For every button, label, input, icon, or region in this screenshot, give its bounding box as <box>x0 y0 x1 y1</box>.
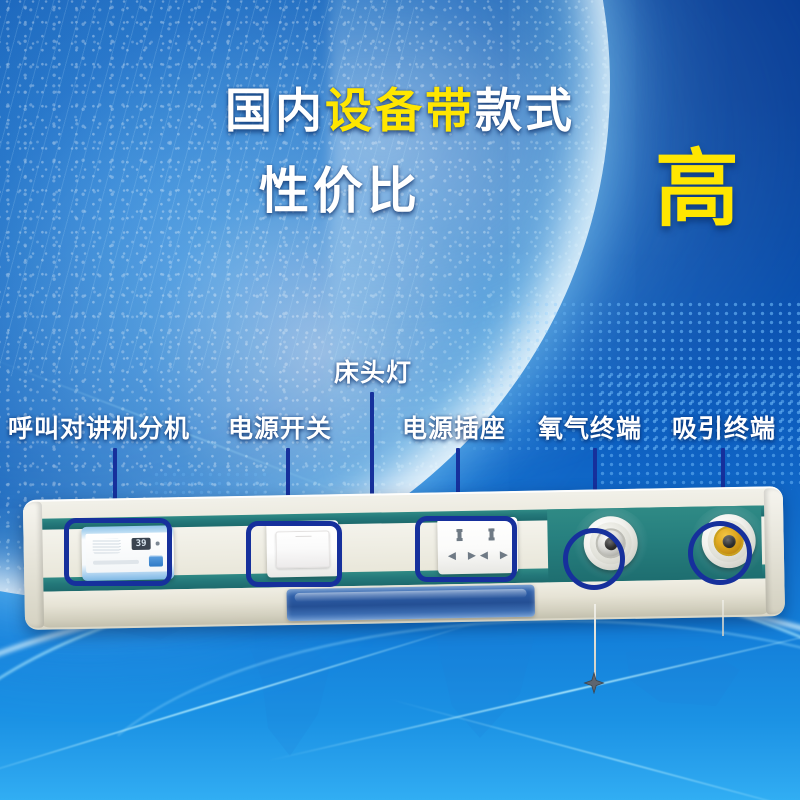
unit-end-cap-left <box>23 502 44 628</box>
headline-part-2: 设备带 <box>325 84 475 139</box>
highlight-box-power-switch <box>246 521 342 587</box>
callout-label-intercom: 呼叫对讲机分机 <box>8 416 190 441</box>
callout-label-oxygen: 氧气终端 <box>538 416 642 441</box>
highlight-box-power-socket <box>415 516 517 582</box>
lamp-gloss <box>295 589 527 602</box>
callout-label-bed-lamp: 床头灯 <box>334 360 412 385</box>
promo-banner: 国内设备带款式 性价比 高 呼叫对讲机分机 电源开关 床头灯 电源插座 氧气终端… <box>0 0 800 800</box>
headline-accent-word: 高 <box>655 147 739 231</box>
oxygen-pull-cord[interactable] <box>594 604 596 680</box>
callout-label-suction: 吸引终端 <box>672 416 776 441</box>
suction-pull-cord[interactable] <box>722 600 724 636</box>
unit-end-cap-right <box>764 488 785 614</box>
headline-subline: 性价比 <box>259 162 421 220</box>
callout-label-power-switch: 电源开关 <box>228 416 332 441</box>
callout-label-power-socket: 电源插座 <box>402 416 506 441</box>
headline-part-1: 国内 <box>225 84 325 139</box>
headline-part-3: 款式 <box>475 84 575 139</box>
bed-head-lamp[interactable] <box>286 585 535 622</box>
highlight-box-intercom <box>64 518 172 586</box>
highlight-circle-suction <box>688 521 752 585</box>
pull-cord-knob-icon[interactable] <box>583 672 605 694</box>
highlight-circle-oxygen <box>563 528 625 590</box>
headline-line-1: 国内设备带款式 <box>0 88 800 135</box>
